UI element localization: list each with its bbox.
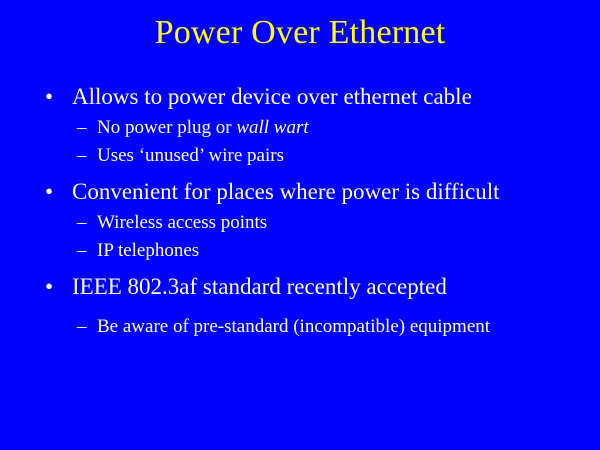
presentation-slide: Power Over Ethernet • Allows to power de… xyxy=(0,0,600,450)
list-item: – IP telephones xyxy=(0,238,600,263)
list-item-label: Convenient for places where power is dif… xyxy=(72,179,500,204)
list-item: – Uses ‘unused’ wire pairs xyxy=(0,143,600,168)
list-item: – Be aware of pre-standard (incompatible… xyxy=(0,314,600,339)
dash-marker-icon: – xyxy=(77,314,97,339)
list-item: – No power plug or wall wart xyxy=(0,115,600,140)
bullet-marker-icon: • xyxy=(45,177,63,207)
bullet-marker-icon: • xyxy=(45,272,63,302)
list-item-label: IEEE 802.3af standard recently accepted xyxy=(72,274,447,299)
spacer xyxy=(0,263,600,272)
dash-marker-icon: – xyxy=(77,238,97,263)
slide-body-content: • Allows to power device over ethernet c… xyxy=(0,82,600,339)
list-item-label: Uses ‘unused’ wire pairs xyxy=(97,145,284,166)
bullet-marker-icon: • xyxy=(45,82,63,112)
list-item-label: Allows to power device over ethernet cab… xyxy=(72,84,472,109)
list-item-label: Be aware of pre-standard (incompatible) … xyxy=(97,316,490,337)
spacer xyxy=(0,302,600,314)
list-item-label: IP telephones xyxy=(97,240,199,261)
list-item: • IEEE 802.3af standard recently accepte… xyxy=(0,272,600,302)
list-item-label: Wireless access points xyxy=(97,212,267,233)
dash-marker-icon: – xyxy=(77,210,97,235)
page-title: Power Over Ethernet xyxy=(0,13,600,53)
list-item: • Convenient for places where power is d… xyxy=(0,177,600,207)
list-item: • Allows to power device over ethernet c… xyxy=(0,82,600,112)
spacer xyxy=(0,168,600,177)
list-item: – Wireless access points xyxy=(0,210,600,235)
dash-marker-icon: – xyxy=(77,143,97,168)
list-item-emphasis: wall wart xyxy=(236,117,308,138)
list-item-label: No power plug or xyxy=(97,117,236,138)
dash-marker-icon: – xyxy=(77,115,97,140)
